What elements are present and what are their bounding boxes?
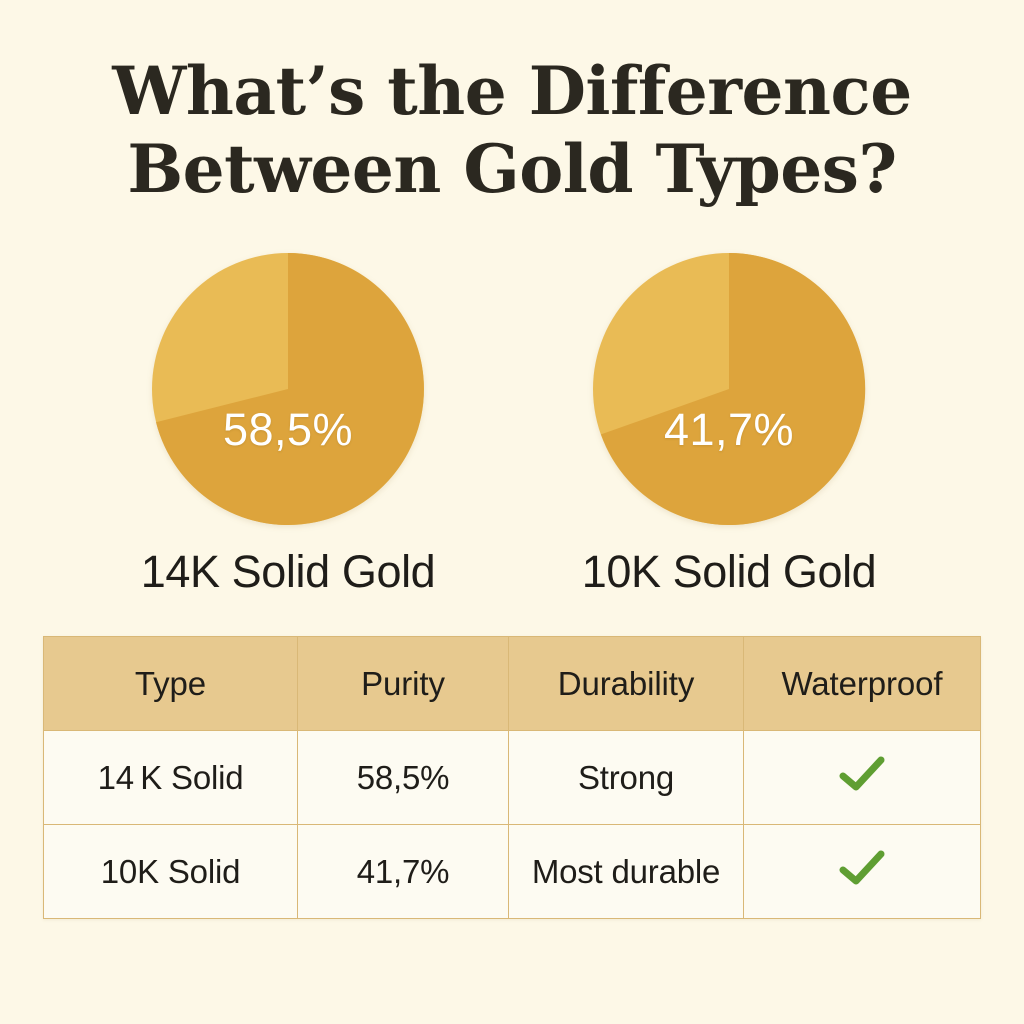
pie-chart-10k — [592, 252, 866, 526]
page-title: What’s the Difference Between Gold Types… — [0, 52, 1024, 208]
pie-wrap-14k: 58,5% — [151, 252, 425, 526]
pie-caption-10k: 10K Solid Gold — [509, 546, 949, 598]
column-header-purity: Purity — [298, 637, 509, 731]
pie-block-10k: 41,7% 10K Solid Gold — [509, 252, 949, 598]
table-header-row: Type Purity Durability Waterproof — [44, 637, 981, 731]
table-row: 14 K Solid 58,5% Strong — [44, 731, 981, 825]
column-header-type: Type — [44, 637, 298, 731]
title-line-2: Between Gold Types? — [0, 130, 1024, 208]
comparison-table: Type Purity Durability Waterproof 14 K S… — [43, 636, 981, 919]
pie-value-10k: 41,7% — [592, 404, 866, 456]
column-header-durability: Durability — [509, 637, 744, 731]
infographic-canvas: What’s the Difference Between Gold Types… — [0, 0, 1024, 1024]
table-row: 10K Solid 41,7% Most durable — [44, 825, 981, 919]
column-header-waterproof: Waterproof — [744, 637, 981, 731]
cell-durability: Strong — [509, 731, 744, 825]
check-icon — [839, 850, 885, 886]
pie-chart-14k — [151, 252, 425, 526]
pie-value-14k: 58,5% — [151, 404, 425, 456]
cell-purity: 58,5% — [298, 731, 509, 825]
cell-durability: Most durable — [509, 825, 744, 919]
cell-type: 10K Solid — [44, 825, 298, 919]
cell-type: 14 K Solid — [44, 731, 298, 825]
pie-caption-14k: 14K Solid Gold — [68, 546, 508, 598]
pie-block-14k: 58,5% 14K Solid Gold — [68, 252, 508, 598]
check-icon — [839, 756, 885, 792]
pie-wrap-10k: 41,7% — [592, 252, 866, 526]
cell-waterproof — [744, 825, 981, 919]
pie-chart-group: 58,5% 14K Solid Gold 41,7% 10K Solid Gol… — [0, 252, 1024, 612]
title-line-1: What’s the Difference — [0, 52, 1024, 130]
cell-purity: 41,7% — [298, 825, 509, 919]
table-header: Type Purity Durability Waterproof — [44, 637, 981, 731]
cell-waterproof — [744, 731, 981, 825]
table-body: 14 K Solid 58,5% Strong 10K Solid 41,7% … — [44, 731, 981, 919]
